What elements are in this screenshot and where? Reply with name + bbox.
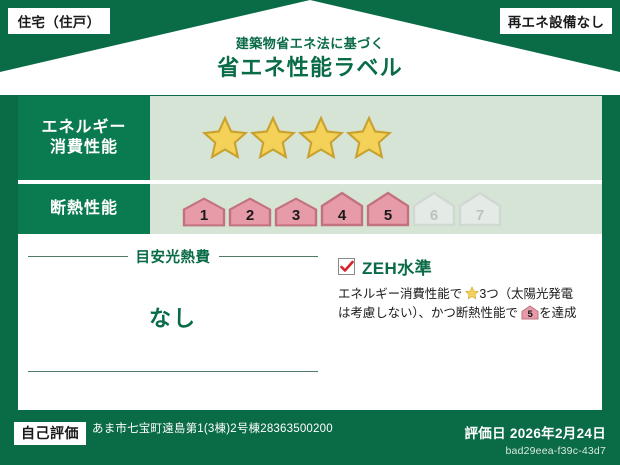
energy-performance-label: 住宅（住戸） 再エネ設備なし 建築物省エネ法に基づく 省エネ性能ラベル エネルギ…: [0, 0, 620, 465]
utility-cost-value: なし: [28, 301, 318, 333]
grade-number: 1: [182, 207, 226, 224]
zeh-title-row: ZEH水準: [338, 254, 594, 279]
star-icon: [202, 115, 248, 161]
insulation-grade-7: 7: [458, 191, 502, 227]
zeh-checkbox[interactable]: [338, 258, 355, 275]
label-id-hash: bad29eea-f39c-43d7: [464, 445, 606, 457]
insulation-performance-label: 断熱性能: [18, 184, 150, 234]
evaluation-date: 評価日 2026年2月24日: [464, 422, 606, 442]
star-icon: [298, 115, 344, 161]
footer-right: 評価日 2026年2月24日 bad29eea-f39c-43d7: [464, 422, 606, 457]
insulation-grade-1: 1: [182, 197, 226, 227]
grade-number: 6: [412, 207, 456, 224]
label-card: エネルギー 消費性能 断熱性能 1234567 目安光熱費: [18, 96, 602, 410]
utility-cost-block: 目安光熱費 なし: [18, 234, 328, 406]
divider-left: [28, 256, 128, 257]
page-title: 省エネ性能ラベル: [0, 54, 620, 82]
zeh-block: ZEH水準 エネルギー消費性能で 3つ（太陽光発電 は考慮しない）、かつ断熱性能…: [328, 234, 602, 406]
energy-performance-row: エネルギー 消費性能: [18, 96, 602, 180]
grade-number: 2: [228, 207, 272, 224]
zeh-desc-part2: は考慮しない）、かつ断熱性能で: [338, 306, 518, 320]
insulation-performance-row: 断熱性能 1234567: [18, 184, 602, 234]
insulation-grade-3: 3: [274, 197, 318, 227]
check-icon: [340, 260, 354, 274]
utility-cost-heading: 目安光熱費: [28, 246, 318, 267]
insulation-grade-2: 2: [228, 197, 272, 227]
energy-label-line1: エネルギー: [41, 118, 126, 138]
zeh-desc-stars: 3つ（太陽光発電: [479, 287, 573, 301]
lower-section: 目安光熱費 なし ZEH水準 エネルギー消費性能で: [18, 234, 602, 406]
grade-number: 5: [366, 207, 410, 224]
badge-renewable-equipment: 再エネ設備なし: [500, 8, 612, 34]
star-rating: [202, 115, 392, 161]
zeh-title-text: ZEH水準: [362, 254, 432, 279]
inline-badge-number: 5: [521, 310, 539, 320]
insulation-label-text: 断熱性能: [50, 199, 118, 219]
energy-performance-label: エネルギー 消費性能: [18, 96, 150, 180]
insulation-grade-scale: 1234567: [182, 191, 502, 227]
self-assessment-badge: 自己評価: [14, 422, 86, 445]
star-icon: [346, 115, 392, 161]
insulation-grade-4: 4: [320, 191, 364, 227]
star-icon: [250, 115, 296, 161]
zeh-desc-part1: エネルギー消費性能で: [338, 287, 462, 301]
energy-label-line2: 消費性能: [50, 138, 118, 158]
grade-number: 3: [274, 207, 318, 224]
energy-performance-value: [150, 96, 602, 180]
insulation-grade-6: 6: [412, 191, 456, 227]
grade-number: 4: [320, 207, 364, 224]
property-address: あま市七宝町遠島第1(3棟)2号棟28363500200: [92, 422, 333, 436]
page-title-block: 建築物省エネ法に基づく 省エネ性能ラベル: [0, 36, 620, 82]
divider-right: [219, 256, 319, 257]
grade-number: 7: [458, 207, 502, 224]
zeh-desc-part3: を達成: [539, 306, 576, 320]
utility-cost-heading-text: 目安光熱費: [128, 246, 219, 267]
footer: 自己評価 あま市七宝町遠島第1(3棟)2号棟28363500200 評価日 20…: [0, 410, 620, 465]
star-icon-inline: [465, 286, 479, 300]
insulation-grade-5: 5: [366, 191, 410, 227]
zeh-description: エネルギー消費性能で 3つ（太陽光発電 は考慮しない）、かつ断熱性能で 5 を達…: [338, 285, 594, 323]
title-subtitle: 建築物省エネ法に基づく: [0, 36, 620, 52]
divider-bottom: [28, 371, 318, 372]
insulation-grade-badge-inline: 5: [521, 305, 539, 320]
badge-building-type: 住宅（住戸）: [8, 8, 110, 34]
insulation-performance-value: 1234567: [150, 184, 602, 234]
